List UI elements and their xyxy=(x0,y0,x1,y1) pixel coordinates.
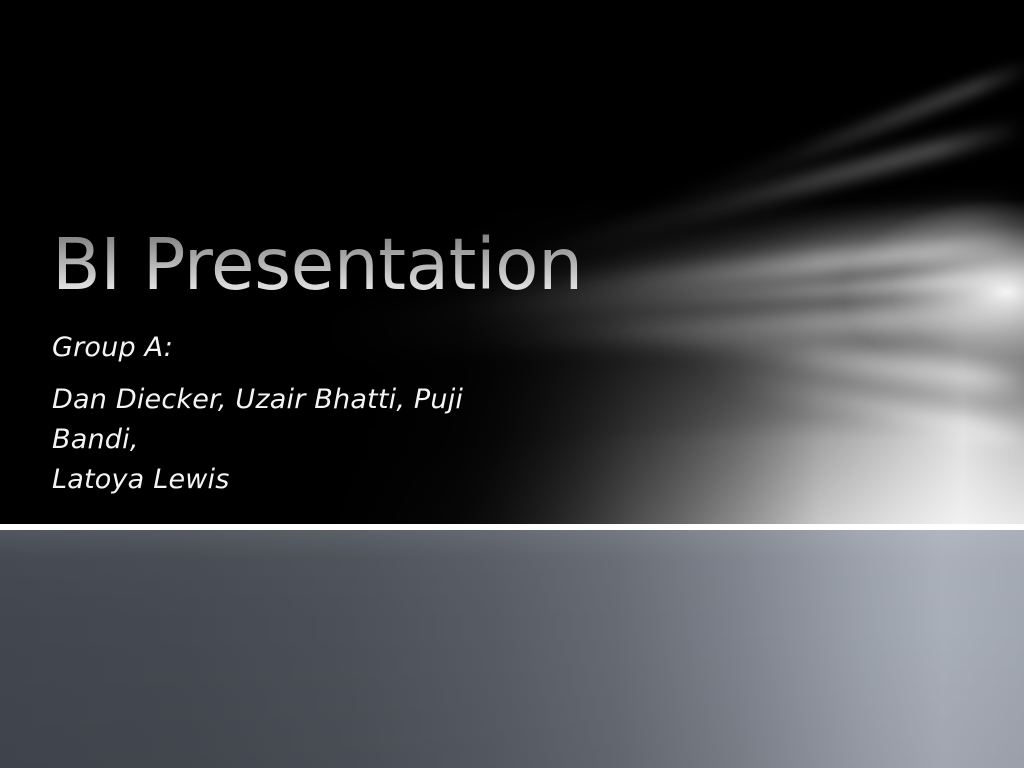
presentation-slide: BI Presentation Group A: Dan Diecker, Uz… xyxy=(0,0,1024,768)
subtitle-block: Group A: Dan Diecker, Uzair Bhatti, Puji… xyxy=(52,328,672,500)
footer-gradient-band xyxy=(0,530,1024,768)
footer-sheen-overlay xyxy=(0,530,1024,768)
subtitle-names-line-2: Latoya Lewis xyxy=(52,460,672,500)
subtitle-group-label: Group A: xyxy=(52,328,672,368)
page-title: BI Presentation xyxy=(52,222,583,308)
subtitle-names-line-1: Dan Diecker, Uzair Bhatti, Puji Bandi, xyxy=(52,380,552,460)
